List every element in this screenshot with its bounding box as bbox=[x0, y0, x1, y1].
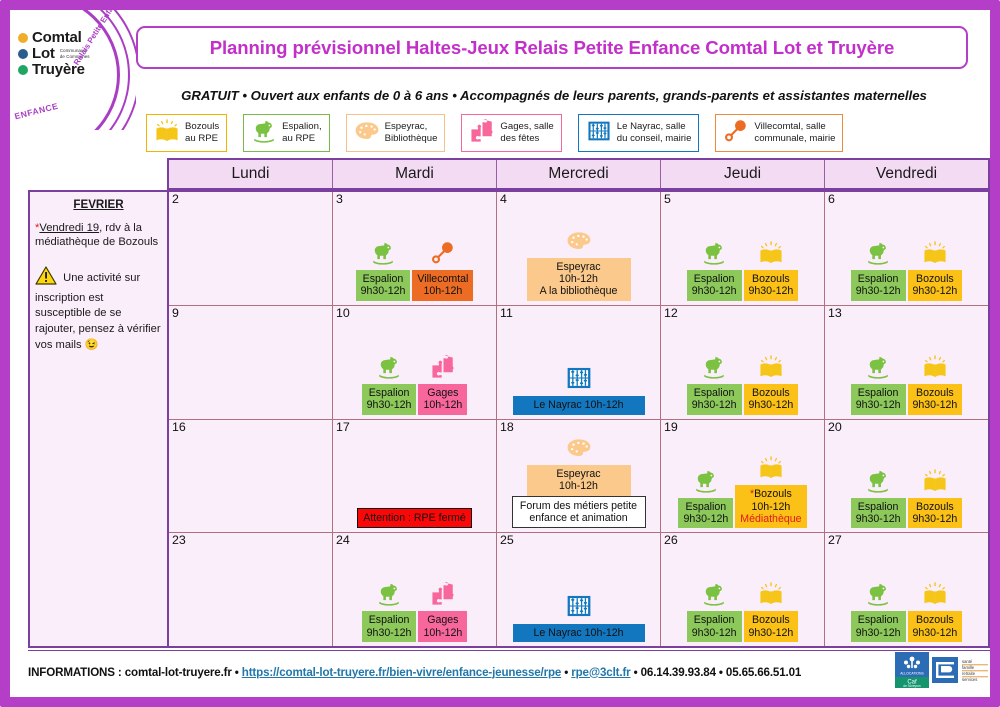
day-number: 20 bbox=[828, 421, 986, 434]
event-line: 10h-12h bbox=[559, 480, 598, 492]
event-line: Bozouls bbox=[916, 614, 954, 626]
legend-item-gagessalle: Gages, salledes fêtes bbox=[461, 114, 561, 152]
day-event[interactable]: Bozouls9h30-12h bbox=[744, 581, 799, 642]
day-event[interactable]: Espalion9h30-12h bbox=[687, 581, 742, 642]
rattle-icon bbox=[430, 240, 456, 271]
poster-subtitle: GRATUIT • Ouvert aux enfants de 0 à 6 an… bbox=[136, 88, 972, 103]
day-number: 10 bbox=[336, 307, 494, 320]
event-line: Le Nayrac 10h-12h bbox=[533, 399, 623, 411]
legend-item-lenayracsalle: Le Nayrac, salledu conseil, mairie bbox=[578, 114, 700, 152]
calendar-week-row: 910Espalion9h30-12hGages10h-12h11Le Nayr… bbox=[169, 306, 988, 420]
event-line: Le Nayrac 10h-12h bbox=[533, 627, 623, 639]
footer-website-link[interactable]: https://comtal-lot-truyere.fr/bien-vivre… bbox=[242, 666, 561, 679]
event-line: 10h-12h bbox=[751, 501, 790, 513]
day-number: 17 bbox=[336, 421, 494, 434]
legend-item-label: Le Nayrac, salledu conseil, mairie bbox=[617, 121, 692, 145]
day-event[interactable]: Espalion9h30-12h bbox=[851, 581, 906, 642]
day-event[interactable]: *Bozouls10h-12hMédiathèque bbox=[735, 455, 806, 528]
day-event[interactable]: Espalion9h30-12h bbox=[851, 354, 906, 415]
event-line: Forum des métiers petite enfance et anim… bbox=[520, 500, 637, 524]
month-notes-panel: FEVRIER *Vendredi 19, rdv à la médiathèq… bbox=[30, 192, 169, 646]
svg-text:retraite: retraite bbox=[962, 671, 976, 676]
day-event[interactable]: Espalion9h30-12h bbox=[678, 468, 733, 529]
calendar-day-24[interactable]: 24Espalion9h30-12hGages10h-12h bbox=[333, 533, 497, 646]
footer-partner-logos: ALLOCATIONS Caf de l'Aveyron santé bbox=[895, 652, 990, 693]
day-event[interactable]: Espeyrac10h-12h bbox=[527, 435, 631, 496]
day-number: 2 bbox=[172, 193, 330, 206]
calendar-day-26[interactable]: 26Espalion9h30-12hBozouls9h30-12h bbox=[661, 533, 825, 646]
logo-text-lot: Lot bbox=[32, 46, 55, 61]
calendar-day-6[interactable]: 6Espalion9h30-12hBozouls9h30-12h bbox=[825, 192, 988, 305]
event-line: 9h30-12h bbox=[361, 285, 406, 297]
event-chip: Espalion9h30-12h bbox=[356, 270, 411, 301]
event-line: 9h30-12h bbox=[856, 513, 901, 525]
note-rdv: *Vendredi 19, rdv à la médiathèque de Bo… bbox=[35, 221, 162, 250]
event-line: Gages bbox=[427, 387, 458, 399]
day-events: Espalion9h30-12hVillecomtal10h-12h bbox=[333, 240, 496, 301]
open-book-icon bbox=[922, 581, 948, 612]
event-chip: Bozouls9h30-12h bbox=[908, 498, 963, 529]
day-events: Le Nayrac 10h-12h bbox=[497, 364, 660, 414]
day-event[interactable]: Bozouls9h30-12h bbox=[908, 468, 963, 529]
calendar-day-23[interactable]: 23 bbox=[169, 533, 333, 646]
calendar-day-25[interactable]: 25Le Nayrac 10h-12h bbox=[497, 533, 661, 646]
weekday-header-mercredi: Mercredi bbox=[497, 160, 661, 188]
legend-item-espeyrac: Espeyrac,Bibliothèque bbox=[346, 114, 446, 152]
rocking-horse-icon bbox=[865, 581, 891, 612]
event-line: 10h-12h bbox=[423, 399, 462, 411]
day-number: 23 bbox=[172, 534, 330, 547]
poster-footer: INFORMATIONS : comtal-lot-truyere.fr • h… bbox=[28, 650, 990, 693]
day-event[interactable]: Villecomtal10h-12h bbox=[412, 240, 473, 301]
svg-text:famille: famille bbox=[962, 665, 975, 670]
calendar: LundiMardiMercrediJeudiVendredi FEVRIER … bbox=[28, 158, 990, 648]
weekday-header-lundi: Lundi bbox=[169, 160, 333, 188]
event-line: 9h30-12h bbox=[683, 513, 728, 525]
puzzle-icon bbox=[430, 581, 456, 612]
rocking-horse-icon bbox=[376, 581, 402, 612]
event-line: Médiathèque bbox=[740, 513, 801, 525]
calendar-week-row: 1617Attention : RPE fermé18Espeyrac10h-1… bbox=[169, 420, 988, 534]
event-chip: Espeyrac10h-12h bbox=[527, 465, 631, 496]
rocking-horse-icon bbox=[376, 354, 402, 385]
svg-text:santé: santé bbox=[962, 659, 973, 664]
event-line: *Bozouls bbox=[750, 488, 792, 500]
organization-logo: Comtal Lot Communautéde Communes Truyère… bbox=[10, 10, 136, 130]
event-chip: Gages10h-12h bbox=[418, 384, 467, 415]
puzzle-icon bbox=[430, 354, 456, 385]
event-chip: Espeyrac10h-12hA la bibliothèque bbox=[527, 258, 631, 301]
day-events: Attention : RPE fermé bbox=[333, 508, 496, 528]
day-event[interactable]: Le Nayrac 10h-12h bbox=[513, 592, 645, 642]
open-book-icon bbox=[758, 455, 784, 486]
day-number: 6 bbox=[828, 193, 986, 206]
event-line: Espalion bbox=[858, 614, 899, 626]
event-line: Espeyrac bbox=[556, 468, 600, 480]
event-line: Espalion bbox=[363, 273, 404, 285]
calendar-day-2[interactable]: 2 bbox=[169, 192, 333, 305]
logo-dot-yellow-icon bbox=[18, 33, 28, 43]
event-line: 9h30-12h bbox=[367, 627, 412, 639]
event-line: 9h30-12h bbox=[856, 285, 901, 297]
day-event[interactable]: Espeyrac10h-12hA la bibliothèque bbox=[527, 228, 631, 301]
calendar-day-16[interactable]: 16 bbox=[169, 420, 333, 533]
event-line: Espalion bbox=[686, 501, 727, 513]
event-line: 9h30-12h bbox=[749, 399, 794, 411]
legend-item-label: Villecomtal, sallecommunale, mairie bbox=[754, 121, 835, 145]
event-line: Espalion bbox=[858, 387, 899, 399]
legend-item-label: Gages, salledes fêtes bbox=[500, 121, 553, 145]
day-number: 11 bbox=[500, 307, 658, 320]
event-chip: Espalion9h30-12h bbox=[851, 498, 906, 529]
event-line: Espalion bbox=[694, 273, 735, 285]
legend-gap bbox=[330, 114, 346, 152]
event-chip: *Bozouls10h-12hMédiathèque bbox=[735, 485, 806, 528]
poster-page: Comtal Lot Communautéde Communes Truyère… bbox=[0, 0, 1000, 707]
note-rdv-day: Vendredi 19 bbox=[39, 222, 99, 234]
event-chip: Bozouls9h30-12h bbox=[908, 270, 963, 301]
event-chip: Forum des métiers petite enfance et anim… bbox=[512, 496, 646, 529]
calendar-day-13[interactable]: 13Espalion9h30-12hBozouls9h30-12h bbox=[825, 306, 988, 419]
svg-text:services: services bbox=[962, 677, 977, 682]
open-book-icon bbox=[922, 468, 948, 499]
event-line: Espeyrac bbox=[556, 261, 600, 273]
day-event[interactable]: Espalion9h30-12h bbox=[362, 354, 417, 415]
day-events: Espalion9h30-12hGages10h-12h bbox=[333, 581, 496, 642]
rocking-horse-icon bbox=[693, 468, 719, 499]
day-number: 26 bbox=[664, 534, 822, 547]
open-book-icon bbox=[922, 354, 948, 385]
event-line: Espalion bbox=[694, 387, 735, 399]
event-chip: Espalion9h30-12h bbox=[687, 611, 742, 642]
day-events: Espalion9h30-12h*Bozouls10h-12hMédiathèq… bbox=[661, 455, 824, 528]
event-line: 9h30-12h bbox=[367, 399, 412, 411]
rocking-horse-icon bbox=[865, 468, 891, 499]
event-line: Bozouls bbox=[916, 501, 954, 513]
abacus-icon bbox=[565, 364, 593, 397]
event-line: 9h30-12h bbox=[913, 627, 958, 639]
day-event[interactable]: Espalion9h30-12h bbox=[687, 240, 742, 301]
weekday-header-vendredi: Vendredi bbox=[825, 160, 988, 188]
event-line: Bozouls bbox=[752, 273, 790, 285]
legend-gap bbox=[227, 114, 243, 152]
day-event[interactable]: Bozouls9h30-12h bbox=[908, 581, 963, 642]
event-line: 9h30-12h bbox=[913, 513, 958, 525]
warning-triangle-icon bbox=[35, 266, 57, 291]
event-line: 10h-12h bbox=[423, 285, 462, 297]
caf-logo-icon: ALLOCATIONS Caf de l'Aveyron bbox=[895, 652, 929, 693]
day-events: Espalion9h30-12hBozouls9h30-12h bbox=[825, 581, 988, 642]
calendar-weekday-header: LundiMardiMercrediJeudiVendredi bbox=[167, 158, 990, 190]
rocking-horse-icon bbox=[865, 240, 891, 271]
day-event[interactable]: Bozouls9h30-12h bbox=[908, 240, 963, 301]
legend-item-villecomtalsalle: Villecomtal, sallecommunale, mairie bbox=[715, 114, 843, 152]
legend-gap bbox=[445, 114, 461, 152]
day-number: 5 bbox=[664, 193, 822, 206]
event-chip: Espalion9h30-12h bbox=[851, 611, 906, 642]
calendar-day-9[interactable]: 9 bbox=[169, 306, 333, 419]
rocking-horse-icon bbox=[701, 240, 727, 271]
calendar-day-27[interactable]: 27Espalion9h30-12hBozouls9h30-12h bbox=[825, 533, 988, 646]
event-line: Espalion bbox=[369, 387, 410, 399]
palette-icon bbox=[354, 118, 380, 149]
day-events: Espalion9h30-12hBozouls9h30-12h bbox=[661, 581, 824, 642]
rocking-horse-icon bbox=[701, 581, 727, 612]
event-line: 9h30-12h bbox=[692, 399, 737, 411]
legend-item-label: Bozoulsau RPE bbox=[185, 121, 219, 145]
legend-item-bozouls: Bozoulsau RPE bbox=[146, 114, 227, 152]
svg-text:de l'Aveyron: de l'Aveyron bbox=[903, 684, 921, 688]
page-title: Planning prévisionnel Haltes-Jeux Relais… bbox=[210, 37, 895, 59]
day-event[interactable]: Bozouls9h30-12h bbox=[744, 354, 799, 415]
day-events: Espeyrac10h-12hA la bibliothèque bbox=[497, 228, 660, 301]
event-chip: Bozouls9h30-12h bbox=[744, 611, 799, 642]
event-line: Bozouls bbox=[752, 614, 790, 626]
event-line: Espalion bbox=[858, 273, 899, 285]
day-events: Espalion9h30-12hBozouls9h30-12h bbox=[661, 354, 824, 415]
event-line: 9h30-12h bbox=[856, 399, 901, 411]
event-line: Bozouls bbox=[752, 387, 790, 399]
legend-item-label: Espeyrac,Bibliothèque bbox=[385, 121, 438, 145]
day-event[interactable]: Espalion9h30-12h bbox=[851, 468, 906, 529]
calendar-day-11[interactable]: 11Le Nayrac 10h-12h bbox=[497, 306, 661, 419]
day-events: Espalion9h30-12hBozouls9h30-12h bbox=[825, 240, 988, 301]
footer-email-link[interactable]: rpe@3clt.fr bbox=[571, 666, 630, 679]
rocking-horse-icon bbox=[701, 354, 727, 385]
event-line: Bozouls bbox=[916, 273, 954, 285]
logo-line-comtal: Comtal bbox=[18, 30, 90, 45]
event-line: Espalion bbox=[369, 614, 410, 626]
day-events: Le Nayrac 10h-12h bbox=[497, 592, 660, 642]
day-event[interactable]: Espalion9h30-12h bbox=[356, 240, 411, 301]
legend-gap bbox=[699, 114, 715, 152]
abacus-icon bbox=[586, 118, 612, 149]
event-chip: Espalion9h30-12h bbox=[687, 270, 742, 301]
event-chip: Espalion9h30-12h bbox=[851, 384, 906, 415]
event-chip: Gages10h-12h bbox=[418, 611, 467, 642]
abacus-icon bbox=[565, 592, 593, 625]
event-chip: Espalion9h30-12h bbox=[362, 384, 417, 415]
event-chip: Bozouls9h30-12h bbox=[744, 270, 799, 301]
day-number: 18 bbox=[500, 421, 658, 434]
day-number: 16 bbox=[172, 421, 330, 434]
day-event[interactable]: Bozouls9h30-12h bbox=[744, 240, 799, 301]
palette-icon bbox=[566, 435, 592, 466]
day-number: 9 bbox=[172, 307, 330, 320]
event-line: 9h30-12h bbox=[749, 285, 794, 297]
calendar-day-12[interactable]: 12Espalion9h30-12hBozouls9h30-12h bbox=[661, 306, 825, 419]
footer-prefix: INFORMATIONS : comtal-lot-truyere.fr • bbox=[28, 666, 242, 679]
event-chip: Villecomtal10h-12h bbox=[412, 270, 473, 301]
day-events: Espalion9h30-12hBozouls9h30-12h bbox=[825, 468, 988, 529]
open-book-icon bbox=[922, 240, 948, 271]
footer-sep: • bbox=[561, 666, 571, 679]
event-line: 9h30-12h bbox=[913, 399, 958, 411]
event-line: Attention : RPE fermé bbox=[363, 512, 465, 524]
footer-suffix: • 06.14.39.93.84 • 05.65.66.51.01 bbox=[631, 666, 802, 679]
legend-item-espalion: Espalion,au RPE bbox=[243, 114, 329, 152]
poster-title-box: Planning prévisionnel Haltes-Jeux Relais… bbox=[136, 26, 968, 69]
event-chip: Espalion9h30-12h bbox=[687, 384, 742, 415]
day-number: 27 bbox=[828, 534, 986, 547]
day-number: 3 bbox=[336, 193, 494, 206]
venue-legend: Bozoulsau RPEEspalion,au RPEEspeyrac,Bib… bbox=[146, 114, 998, 152]
event-line: 9h30-12h bbox=[913, 285, 958, 297]
calendar-day-5[interactable]: 5Espalion9h30-12hBozouls9h30-12h bbox=[661, 192, 825, 305]
event-chip: Le Nayrac 10h-12h bbox=[513, 624, 645, 642]
logo-dot-blue-icon bbox=[18, 49, 28, 59]
event-chip: Espalion9h30-12h bbox=[678, 498, 733, 529]
day-number: 25 bbox=[500, 534, 658, 547]
open-book-icon bbox=[758, 354, 784, 385]
rocking-horse-icon bbox=[370, 240, 396, 271]
day-event[interactable]: Le Nayrac 10h-12h bbox=[513, 364, 645, 414]
legend-gap bbox=[562, 114, 578, 152]
day-event[interactable]: Attention : RPE fermé bbox=[357, 508, 471, 528]
event-chip: Bozouls9h30-12h bbox=[908, 611, 963, 642]
event-line: 10h-12h bbox=[559, 273, 598, 285]
event-chip: Le Nayrac 10h-12h bbox=[513, 396, 645, 414]
day-events: Espeyrac10h-12hForum des métiers petite … bbox=[497, 435, 660, 528]
palette-icon bbox=[566, 228, 592, 259]
event-chip: Attention : RPE fermé bbox=[357, 508, 471, 528]
event-line: Bozouls bbox=[916, 387, 954, 399]
event-line: 10h-12h bbox=[423, 627, 462, 639]
footer-contact-line: INFORMATIONS : comtal-lot-truyere.fr • h… bbox=[28, 666, 895, 679]
event-line: 9h30-12h bbox=[749, 627, 794, 639]
svg-text:ALLOCATIONS: ALLOCATIONS bbox=[900, 671, 924, 675]
day-event[interactable]: Gages10h-12h bbox=[418, 581, 467, 642]
day-number: 12 bbox=[664, 307, 822, 320]
day-event[interactable]: Espalion9h30-12h bbox=[362, 581, 417, 642]
event-chip: Espalion9h30-12h bbox=[362, 611, 417, 642]
open-book-icon bbox=[154, 118, 180, 149]
calendar-day-3[interactable]: 3Espalion9h30-12hVillecomtal10h-12h bbox=[333, 192, 497, 305]
calendar-day-18[interactable]: 18Espeyrac10h-12hForum des métiers petit… bbox=[497, 420, 661, 533]
day-event[interactable]: Espalion9h30-12h bbox=[851, 240, 906, 301]
month-label: FEVRIER bbox=[35, 198, 162, 211]
puzzle-icon bbox=[469, 118, 495, 149]
legend-item-label: Espalion,au RPE bbox=[282, 121, 321, 145]
day-events: Espalion9h30-12hBozouls9h30-12h bbox=[661, 240, 824, 301]
day-number: 19 bbox=[664, 421, 822, 434]
open-book-icon bbox=[758, 240, 784, 271]
event-line: Espalion bbox=[694, 614, 735, 626]
calendar-day-17[interactable]: 17Attention : RPE fermé bbox=[333, 420, 497, 533]
event-chip: Bozouls9h30-12h bbox=[744, 384, 799, 415]
event-line: 9h30-12h bbox=[692, 627, 737, 639]
calendar-week-row: 23Espalion9h30-12hVillecomtal10h-12h4Esp… bbox=[169, 192, 988, 306]
day-event[interactable]: Gages10h-12h bbox=[418, 354, 467, 415]
note-warning: Une activité sur inscription est suscept… bbox=[35, 266, 162, 355]
calendar-week-row: 2324Espalion9h30-12hGages10h-12h25Le Nay… bbox=[169, 533, 988, 646]
calendar-day-19[interactable]: 19Espalion9h30-12h*Bozouls10h-12hMédiath… bbox=[661, 420, 825, 533]
event-chip: Espalion9h30-12h bbox=[851, 270, 906, 301]
day-event[interactable]: Bozouls9h30-12h bbox=[908, 354, 963, 415]
event-line: 9h30-12h bbox=[692, 285, 737, 297]
calendar-grid: FEVRIER *Vendredi 19, rdv à la médiathèq… bbox=[28, 190, 990, 648]
calendar-day-4[interactable]: 4Espeyrac10h-12hA la bibliothèque bbox=[497, 192, 661, 305]
msa-logo-icon: santé famille retraite services bbox=[932, 655, 990, 690]
event-line: Espalion bbox=[858, 501, 899, 513]
day-number: 13 bbox=[828, 307, 986, 320]
event-chip: Bozouls9h30-12h bbox=[908, 384, 963, 415]
day-events: Espalion9h30-12hBozouls9h30-12h bbox=[825, 354, 988, 415]
day-number: 24 bbox=[336, 534, 494, 547]
calendar-weeks: 23Espalion9h30-12hVillecomtal10h-12h4Esp… bbox=[169, 192, 988, 646]
logo-dot-green-icon bbox=[18, 65, 28, 75]
open-book-icon bbox=[758, 581, 784, 612]
event-line: A la bibliothèque bbox=[540, 285, 618, 297]
day-number: 4 bbox=[500, 193, 658, 206]
calendar-day-20[interactable]: 20Espalion9h30-12hBozouls9h30-12h bbox=[825, 420, 988, 533]
rocking-horse-icon bbox=[865, 354, 891, 385]
event-line: 9h30-12h bbox=[856, 627, 901, 639]
day-event[interactable]: Espalion9h30-12h bbox=[687, 354, 742, 415]
rattle-icon bbox=[723, 118, 749, 149]
logo-text-comtal: Comtal bbox=[32, 30, 82, 45]
rocking-horse-icon bbox=[251, 118, 277, 149]
day-events: Espalion9h30-12hGages10h-12h bbox=[333, 354, 496, 415]
calendar-day-10[interactable]: 10Espalion9h30-12hGages10h-12h bbox=[333, 306, 497, 419]
event-line: Gages bbox=[427, 614, 458, 626]
weekday-header-jeudi: Jeudi bbox=[661, 160, 825, 188]
weekday-header-mardi: Mardi bbox=[333, 160, 497, 188]
day-event[interactable]: Forum des métiers petite enfance et anim… bbox=[512, 496, 646, 529]
event-line: Villecomtal bbox=[417, 273, 468, 285]
